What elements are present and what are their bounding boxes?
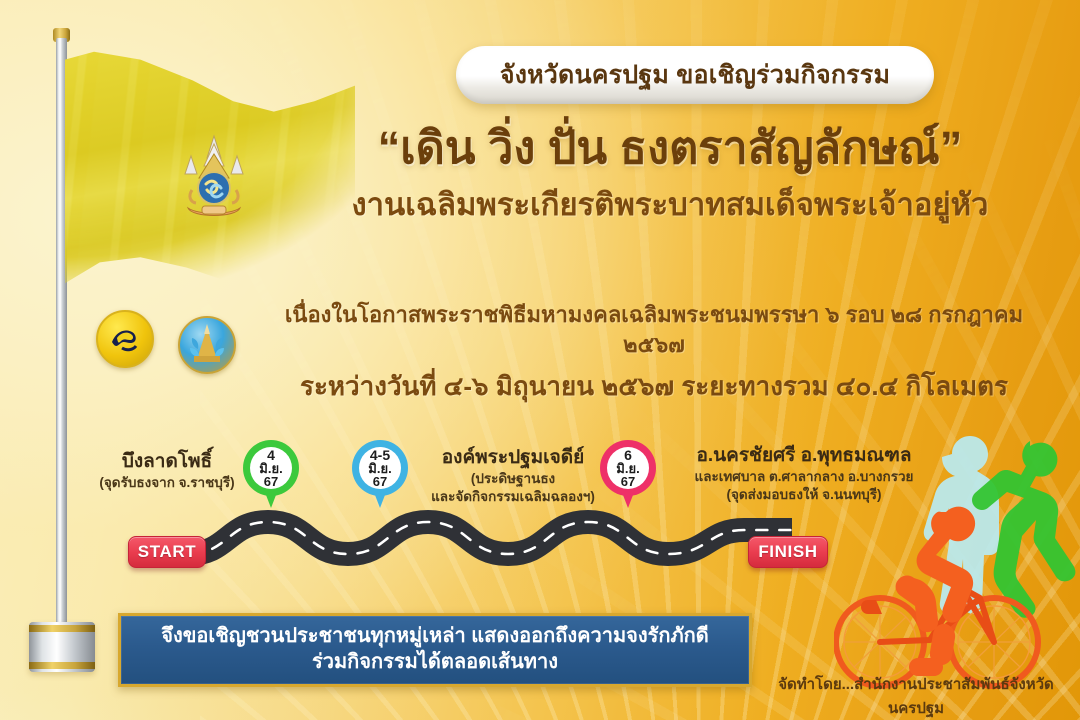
waypoint-title-2: องค์พระปฐมเจดีย์: [408, 448, 618, 469]
waypoint-title-1: บึงลาดโพธิ์: [92, 452, 242, 473]
waypoint-sub-2: (ประดิษฐานธง: [408, 471, 618, 487]
pin-date-2: 4-5 มิ.ย. 67: [359, 447, 401, 489]
occasion-line-1: เนื่องในโอกาสพระราชพิธีมหามงคลเฉลิมพระชน…: [268, 300, 1040, 359]
route-pin-1[interactable]: 4 มิ.ย. 67: [243, 440, 299, 510]
start-badge[interactable]: START: [128, 536, 206, 568]
pin-date-3: 6 มิ.ย. 67: [607, 447, 649, 489]
royal-cypher-emblem-icon: [172, 132, 256, 228]
start-label: START: [138, 542, 196, 562]
page-title: “เดิน วิ่ง ปั่น ธงตราสัญลักษณ์”: [300, 124, 1040, 173]
occasion-line-2: ระหว่างวันที่ ๔-๖ มิถุนายน ๒๕๖๗ ระยะทางร…: [268, 369, 1040, 404]
winding-road-icon: [140, 508, 800, 588]
pin-day-1: 4: [267, 448, 275, 462]
athletes-silhouettes: [834, 412, 1080, 712]
banner-line-2: ร่วมกิจกรรมได้ตลอดเส้นทาง: [312, 650, 558, 676]
pin-day-2: 4-5: [370, 448, 390, 462]
finish-badge[interactable]: FINISH: [748, 536, 828, 568]
route-pin-3[interactable]: 6 มิ.ย. 67: [600, 440, 656, 510]
banner-line-1: จึงขอเชิญชวนประชาชนทุกหมู่เหล่า แสดงออกถ…: [161, 624, 709, 650]
page-subtitle: งานเฉลิมพระเกียรติพระบาทสมเด็จพระเจ้าอยู…: [300, 187, 1040, 223]
waypoint-sub-1: (จุดรับธงจาก จ.ราชบุรี): [92, 475, 242, 491]
waypoint-label-1: บึงลาดโพธิ์ (จุดรับธงจาก จ.ราชบุรี): [92, 452, 242, 491]
waypoint-sub2-2: และจัดกิจกรรมเฉลิมฉลองฯ): [408, 489, 618, 505]
pagoda-seal-icon: [178, 316, 236, 374]
pin-month-2: มิ.ย.: [368, 462, 391, 475]
headline-block: “เดิน วิ่ง ปั่น ธงตราสัญลักษณ์” งานเฉลิม…: [300, 124, 1040, 222]
province-seal-icon: [96, 310, 154, 368]
pin-month-3: มิ.ย.: [616, 462, 639, 475]
call-to-action-banner: จึงขอเชิญชวนประชาชนทุกหมู่เหล่า แสดงออกถ…: [118, 613, 752, 687]
pin-date-1: 4 มิ.ย. 67: [250, 447, 292, 489]
event-poster: จังหวัดนครปฐม ขอเชิญร่วมกิจกรรม “เดิน วิ…: [0, 0, 1080, 720]
occasion-block: เนื่องในโอกาสพระราชพิธีมหามงคลเฉลิมพระชน…: [268, 300, 1040, 404]
pin-year-2: 67: [373, 475, 387, 488]
finish-label: FINISH: [758, 542, 817, 562]
waypoint-label-2: องค์พระปฐมเจดีย์ (ประดิษฐานธง และจัดกิจก…: [408, 448, 618, 506]
pin-day-3: 6: [624, 448, 632, 462]
header-badge: จังหวัดนครปฐม ขอเชิญร่วมกิจกรรม: [456, 46, 934, 104]
pin-month-1: มิ.ย.: [259, 462, 282, 475]
flagpole-base-icon: [29, 622, 95, 672]
pin-year-3: 67: [621, 475, 635, 488]
pin-year-1: 67: [264, 475, 278, 488]
credit-line: จัดทำโดย...สำนักงานประชาสัมพันธ์จังหวัดน…: [756, 672, 1076, 720]
route-pin-2[interactable]: 4-5 มิ.ย. 67: [352, 440, 408, 510]
header-badge-label: จังหวัดนครปฐม ขอเชิญร่วมกิจกรรม: [500, 63, 890, 88]
